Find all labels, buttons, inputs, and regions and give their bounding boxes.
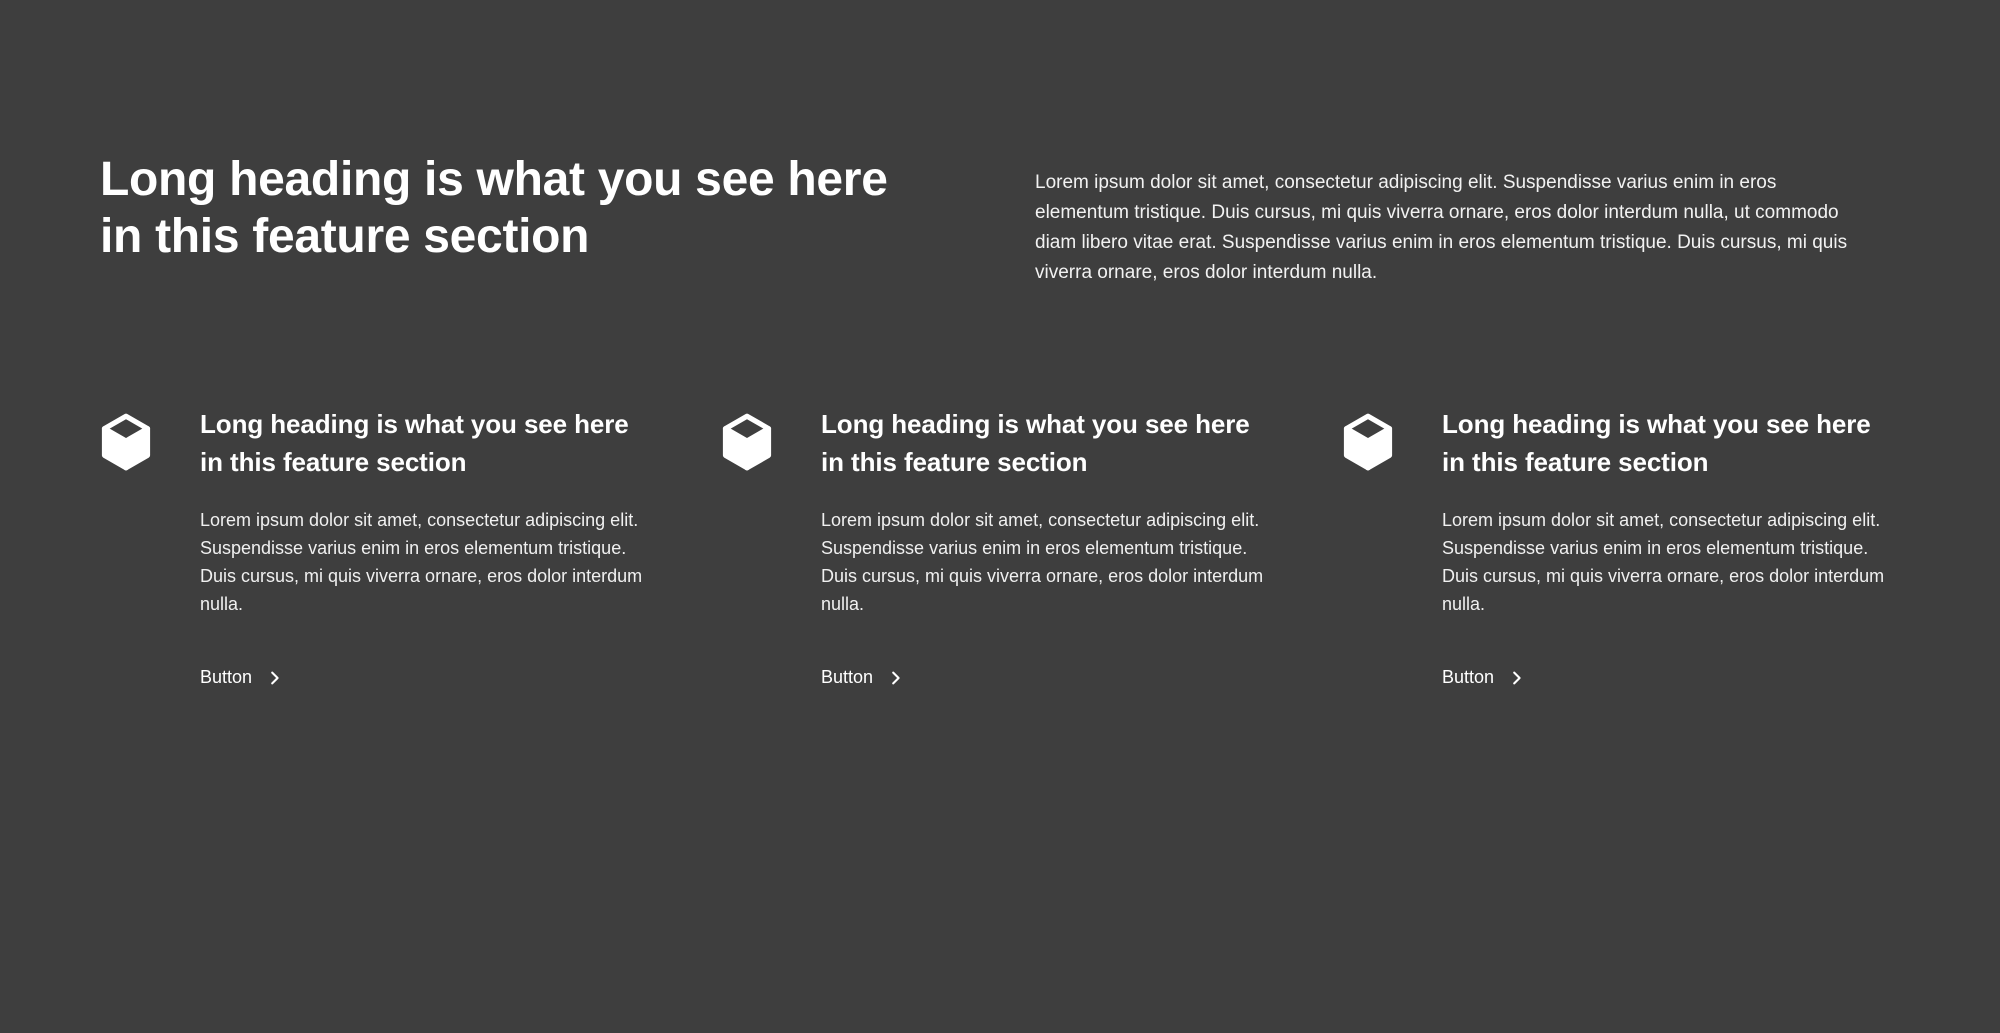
chevron-right-icon xyxy=(1510,671,1524,685)
page-title: Long heading is what you see here in thi… xyxy=(100,152,890,265)
feature-card-title: Long heading is what you see here in thi… xyxy=(821,406,1271,481)
chevron-right-icon xyxy=(268,671,282,685)
cube-icon xyxy=(1342,413,1394,471)
header-right-column: Lorem ipsum dolor sit amet, consectetur … xyxy=(1035,152,1900,288)
section-header: Long heading is what you see here in thi… xyxy=(100,0,1900,288)
cube-icon xyxy=(721,413,773,471)
chevron-right-icon xyxy=(889,671,903,685)
feature-card-title: Long heading is what you see here in thi… xyxy=(200,406,650,481)
feature-card: Long heading is what you see here in thi… xyxy=(100,406,721,690)
feature-card-button-label: Button xyxy=(1442,665,1494,690)
feature-card-body: Long heading is what you see here in thi… xyxy=(1442,406,1892,690)
feature-card-description: Lorem ipsum dolor sit amet, consectetur … xyxy=(1442,507,1892,619)
feature-card: Long heading is what you see here in thi… xyxy=(721,406,1342,690)
header-left-column: Long heading is what you see here in thi… xyxy=(100,152,1035,265)
feature-card-button[interactable]: Button xyxy=(200,665,282,690)
feature-card-title: Long heading is what you see here in thi… xyxy=(1442,406,1892,481)
feature-card-description: Lorem ipsum dolor sit amet, consectetur … xyxy=(200,507,650,619)
section-description: Lorem ipsum dolor sit amet, consectetur … xyxy=(1035,168,1860,288)
feature-card-button-label: Button xyxy=(821,665,873,690)
feature-card: Long heading is what you see here in thi… xyxy=(1342,406,1963,690)
feature-card-body: Long heading is what you see here in thi… xyxy=(821,406,1271,690)
cube-icon xyxy=(100,413,152,471)
feature-card-body: Long heading is what you see here in thi… xyxy=(200,406,650,690)
feature-card-button-label: Button xyxy=(200,665,252,690)
feature-card-list: Long heading is what you see here in thi… xyxy=(100,406,1900,690)
feature-card-button[interactable]: Button xyxy=(1442,665,1524,690)
feature-section: Long heading is what you see here in thi… xyxy=(0,0,2000,1033)
feature-card-description: Lorem ipsum dolor sit amet, consectetur … xyxy=(821,507,1271,619)
feature-card-button[interactable]: Button xyxy=(821,665,903,690)
